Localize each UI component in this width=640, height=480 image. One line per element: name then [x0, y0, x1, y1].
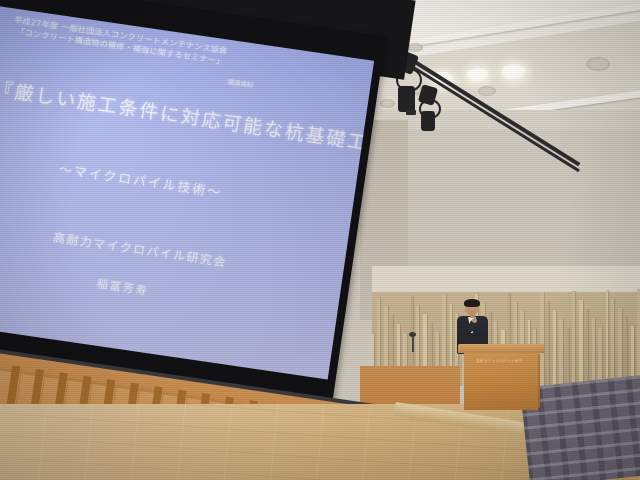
podium-lectern: 高耐力マイクロパイル研究会 — [462, 344, 540, 410]
speaker-hand — [472, 318, 477, 323]
projection-screen: 平成27年度 一般社団法人コンクリートメンテナンス協会 「コンクリート構造物の補… — [0, 5, 374, 380]
slat — [567, 328, 569, 386]
projection-screen-frame: 平成27年度 一般社団法人コンクリートメンテナンス協会 「コンクリート構造物の補… — [0, 0, 386, 412]
slat — [618, 308, 622, 386]
slide-title: 『厳しい施工条件に対応可能な杭基礎工法』 — [0, 74, 374, 161]
slat — [611, 299, 614, 386]
podium-nameplate: 高耐力マイクロパイル研究会 — [476, 358, 522, 364]
slat — [592, 318, 595, 386]
microphone-stand — [412, 336, 414, 352]
slide-presenter: 稲冨芳寿 — [96, 275, 150, 298]
slat — [559, 319, 563, 386]
downlight-unlit-5 — [380, 99, 395, 108]
slat — [625, 317, 627, 386]
slat — [579, 300, 583, 386]
conference-hall-photo: 平成27年度 一般社団法人コンクリートメンテナンス協会 「コンクリート構造物の補… — [0, 0, 640, 480]
slat — [606, 290, 608, 386]
slide-organization: 高耐力マイクロパイル研究会 — [52, 229, 228, 271]
speaker-hair — [464, 299, 480, 307]
slide-header-right: 講演資料 — [227, 76, 254, 90]
slat — [547, 301, 549, 386]
slat — [598, 327, 602, 386]
downlight-unlit-1 — [586, 57, 610, 71]
slat — [586, 309, 588, 386]
slat — [572, 291, 575, 386]
downlight-unlit-4 — [407, 43, 423, 52]
slide-subtitle: 〜マイクロパイル技術〜 — [58, 159, 224, 202]
stage-light-4 — [398, 86, 415, 112]
downlight-2 — [466, 68, 490, 83]
microphone-icon — [409, 332, 416, 337]
light-mount — [406, 110, 416, 115]
slat — [540, 292, 544, 386]
downlight-3 — [501, 64, 528, 81]
downlight-unlit-2 — [478, 86, 496, 96]
stage-light-6 — [421, 111, 435, 131]
lighting-rig-2 — [428, 86, 432, 146]
podium-top-surface — [458, 344, 544, 353]
slat — [553, 310, 556, 386]
